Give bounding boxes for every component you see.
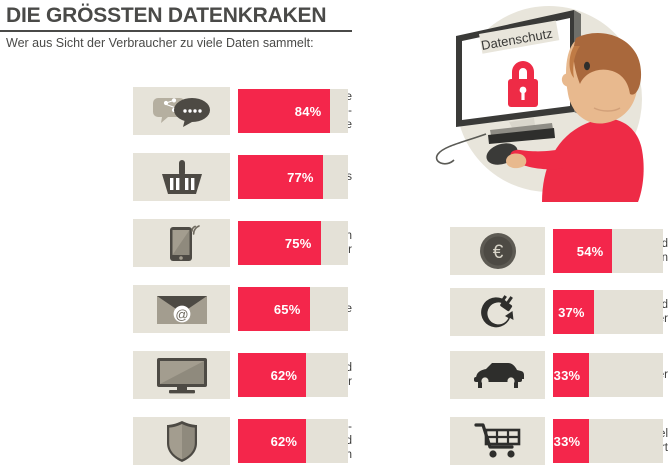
smartphone-wifi-icon bbox=[160, 223, 204, 263]
bar-value: 75% bbox=[285, 236, 312, 251]
envelope-at-icon: @ bbox=[155, 291, 209, 327]
shopping-cart-icon bbox=[474, 421, 522, 461]
bar-track: 33% bbox=[553, 353, 663, 397]
bar-value: 84% bbox=[295, 104, 322, 119]
bar-track: 33% bbox=[553, 419, 663, 463]
page-title: DIE GRÖSSTEN DATENKRAKEN bbox=[6, 4, 326, 28]
shopping-basket-icon bbox=[160, 158, 204, 196]
row-telefongesellschaften: Telefongesellschaften und Internetanbiet… bbox=[0, 219, 352, 267]
bar-value: 62% bbox=[271, 368, 298, 383]
bar-value: 62% bbox=[271, 434, 298, 449]
bar-value: 65% bbox=[274, 302, 301, 317]
bar-fill: 65% bbox=[238, 287, 310, 331]
infographic-root: DIE GRÖSSTEN DATENKRAKEN Wer aus Sicht d… bbox=[0, 0, 668, 474]
bar-fill: 54% bbox=[553, 229, 612, 273]
icon-tile: @ bbox=[133, 285, 230, 333]
row-banken-sparkassen: Banken und Sparkassen € 54% bbox=[355, 227, 668, 275]
car-icon bbox=[472, 359, 524, 391]
row-versicherungsunternehmen: Versicherungs- unternehmen und Krankenka… bbox=[0, 417, 352, 465]
euro-coin-icon: € bbox=[478, 231, 518, 271]
svg-text:€: € bbox=[492, 242, 503, 263]
bar-value: 37% bbox=[558, 305, 585, 320]
bar-track: 75% bbox=[238, 221, 348, 265]
row-onlineshops: Onlineshops 77% bbox=[0, 153, 352, 201]
bar-fill: 37% bbox=[553, 290, 594, 334]
monitor-icon bbox=[154, 355, 210, 395]
row-autohersteller: Autohersteller 33% bbox=[355, 351, 668, 399]
bar-fill: 77% bbox=[238, 155, 323, 199]
title-divider bbox=[0, 30, 352, 32]
bar-fill: 84% bbox=[238, 89, 330, 133]
bar-fill: 62% bbox=[238, 419, 306, 463]
icon-tile bbox=[133, 153, 230, 201]
power-plug-icon bbox=[477, 292, 519, 332]
icon-tile bbox=[133, 351, 230, 399]
icon-tile: € bbox=[450, 227, 545, 275]
icon-tile bbox=[450, 351, 545, 399]
bar-track: 54% bbox=[553, 229, 663, 273]
icon-tile bbox=[133, 417, 230, 465]
bar-value: 77% bbox=[287, 170, 314, 185]
bar-fill: 33% bbox=[553, 419, 589, 463]
bar-value: 33% bbox=[554, 368, 581, 383]
page-subtitle: Wer aus Sicht der Verbraucher zu viele D… bbox=[6, 36, 314, 50]
bar-fill: 33% bbox=[553, 353, 589, 397]
bar-fill: 75% bbox=[238, 221, 321, 265]
bar-track: 62% bbox=[238, 419, 348, 463]
bar-value: 54% bbox=[577, 244, 604, 259]
row-email-dienste: E-Mail-Dienste @ 65% bbox=[0, 285, 352, 333]
icon-tile bbox=[450, 288, 545, 336]
row-soziale-netzwerke: soziale Netzwerke und Kommunikations- di… bbox=[0, 87, 352, 135]
row-einzelhandel-vor-ort: Einzelhandel vor Ort 33% bbox=[355, 417, 668, 465]
shield-icon bbox=[164, 419, 200, 463]
row-strom-gasanbieter: Strom- und Gasanbieter 37% bbox=[355, 288, 668, 336]
bar-value: 33% bbox=[554, 434, 581, 449]
icon-tile bbox=[450, 417, 545, 465]
speech-bubbles-share-icon bbox=[152, 94, 212, 128]
bar-track: 84% bbox=[238, 89, 348, 133]
bar-track: 65% bbox=[238, 287, 348, 331]
icon-tile bbox=[133, 87, 230, 135]
bar-track: 77% bbox=[238, 155, 348, 199]
bar-track: 62% bbox=[238, 353, 348, 397]
svg-text:@: @ bbox=[175, 307, 188, 322]
bar-track: 37% bbox=[553, 290, 663, 334]
hero-illustration: Datenschutz bbox=[424, 2, 664, 202]
row-handy-computerhersteller: Handy- und Computerhersteller 62% bbox=[0, 351, 352, 399]
bar-fill: 62% bbox=[238, 353, 306, 397]
icon-tile bbox=[133, 219, 230, 267]
